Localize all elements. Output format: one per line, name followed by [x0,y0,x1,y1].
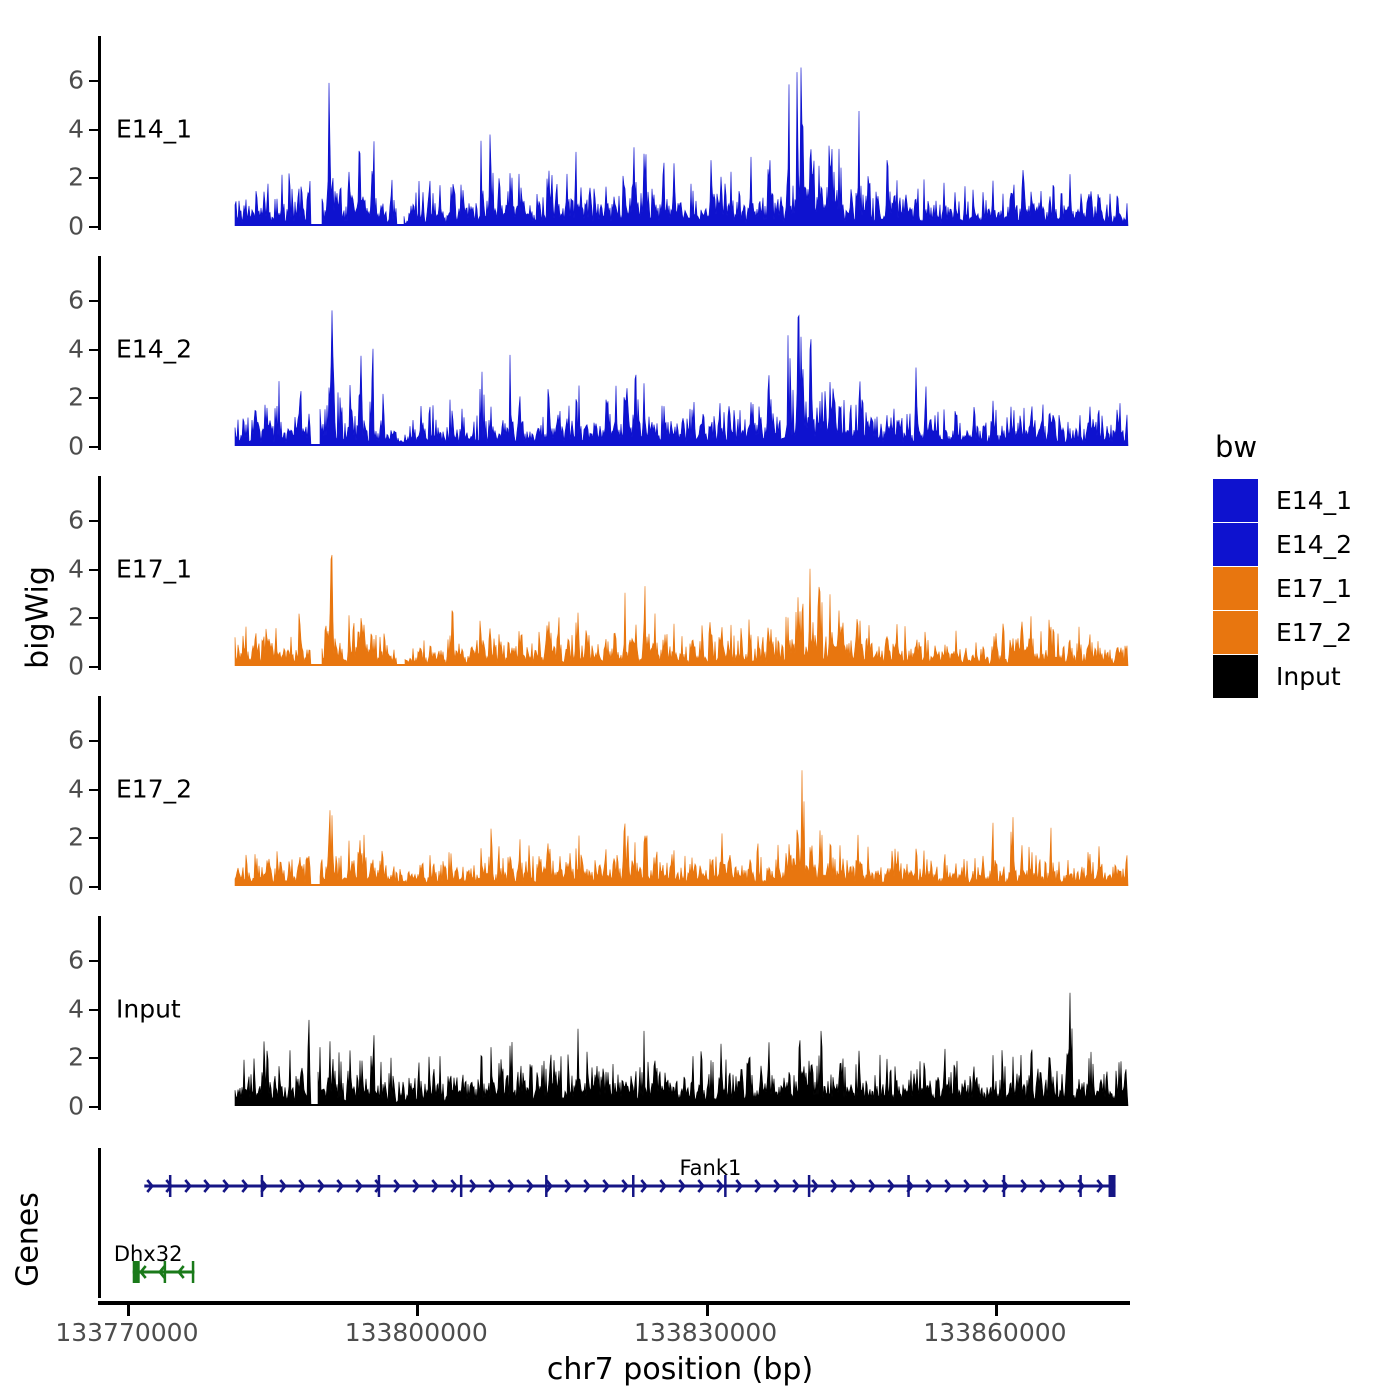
y-tick-label: 6 [68,945,84,974]
legend-label: E17_2 [1276,618,1352,647]
y-tick [89,837,98,839]
legend-label: Input [1276,662,1341,691]
legend-item-e17_2[interactable]: E17_2 [1213,610,1352,654]
x-tick [706,1305,709,1316]
y-tick [89,226,98,228]
legend-swatch [1213,611,1258,654]
track-panel-e17_2: 0246E17_2 [98,696,1130,890]
y-tick [89,177,98,179]
y-tick-label: 0 [68,652,84,681]
legend-item-e14_2[interactable]: E14_2 [1213,522,1352,566]
x-tick-label: 133830000 [634,1318,777,1347]
y-tick [89,960,98,962]
y-tick-label: 0 [68,432,84,461]
legend-item-e17_1[interactable]: E17_1 [1213,566,1352,610]
x-tick-label: 133860000 [923,1318,1066,1347]
y-tick [89,397,98,399]
y-tick-label: 2 [68,1043,84,1072]
y-tick [89,569,98,571]
x-tick-label: 133800000 [345,1318,488,1347]
y-tick [89,789,98,791]
y-tick [89,886,98,888]
y-tick-label: 4 [68,554,84,583]
legend-item-input[interactable]: Input [1213,654,1352,698]
track-panel-e17_1: 0246E17_1 [98,476,1130,670]
track-panel-e14_2: 0246E14_2 [98,256,1130,450]
bigwig-axis-title: bigWig [21,518,56,718]
y-tick-label: 4 [68,774,84,803]
x-tick-label: 133770000 [55,1318,198,1347]
signal-area-e14_2 [101,256,1130,446]
x-axis-line [98,1301,1130,1305]
track-panel-input: 0246Input [98,916,1130,1110]
x-tick [416,1305,419,1316]
legend-title: bw [1215,430,1352,464]
y-tick-label: 2 [68,823,84,852]
y-tick [89,349,98,351]
x-tick [995,1305,998,1316]
y-tick [89,80,98,82]
y-tick [89,520,98,522]
y-tick-label: 6 [68,285,84,314]
genes-panel: Fank1Dhx32 [98,1148,1130,1298]
legend-items: E14_1E14_2E17_1E17_2Input [1213,478,1352,698]
y-tick-label: 0 [68,1092,84,1121]
gene-label-dhx32: Dhx32 [114,1242,183,1266]
y-tick [89,446,98,448]
legend-label: E14_1 [1276,486,1352,515]
y-tick-label: 2 [68,603,84,632]
y-tick-label: 6 [68,65,84,94]
gene-label-fank1: Fank1 [680,1156,742,1180]
y-tick-label: 2 [68,383,84,412]
y-tick-label: 6 [68,725,84,754]
signal-area-e14_1 [101,36,1130,226]
y-tick [89,1057,98,1059]
y-tick-label: 2 [68,163,84,192]
y-tick [89,740,98,742]
legend-swatch [1213,523,1258,566]
legend-item-e14_1[interactable]: E14_1 [1213,478,1352,522]
y-tick-label: 4 [68,334,84,363]
signal-area-e17_2 [101,696,1130,886]
genes-axis-title: Genes [11,1160,46,1320]
y-tick [89,129,98,131]
y-tick-label: 6 [68,505,84,534]
y-tick [89,1009,98,1011]
y-tick [89,1106,98,1108]
y-tick [89,617,98,619]
y-tick [89,666,98,668]
signal-area-e17_1 [101,476,1130,666]
legend-label: E17_1 [1276,574,1352,603]
x-axis-title: chr7 position (bp) [230,1352,1130,1387]
y-tick-label: 4 [68,994,84,1023]
legend-label: E14_2 [1276,530,1352,559]
y-tick [89,300,98,302]
y-tick-label: 0 [68,872,84,901]
signal-area-input [101,916,1130,1106]
y-tick-label: 4 [68,114,84,143]
y-tick-label: 0 [68,212,84,241]
x-tick [127,1305,130,1316]
track-panel-e14_1: 0246E14_1 [98,36,1130,230]
legend-swatch [1213,479,1258,522]
legend-swatch [1213,655,1258,698]
legend: bw E14_1E14_2E17_1E17_2Input [1213,430,1352,698]
legend-swatch [1213,567,1258,610]
